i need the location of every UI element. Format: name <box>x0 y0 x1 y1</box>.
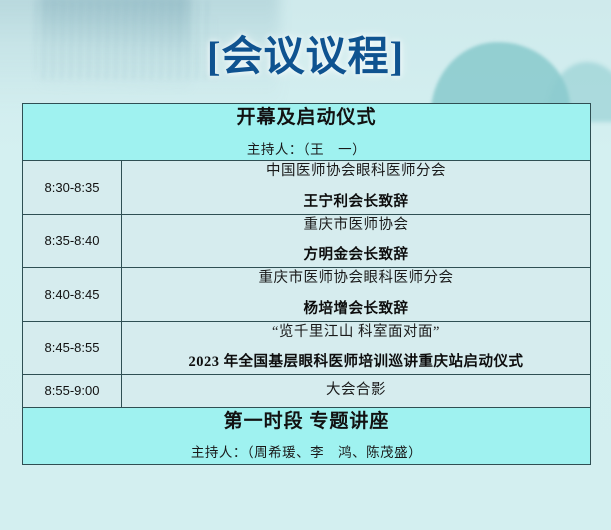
table-row: 8:30-8:35 中国医师协会眼科医师分会 王宁利会长致辞 <box>23 161 591 215</box>
row-speaker: 方明金会长致辞 <box>122 245 590 267</box>
section-header-cell: 第一时段 专题讲座 主持人：（周希瑗、李 鸿、陈茂盛） <box>23 407 591 464</box>
table-row: 8:55-9:00 大会合影 <box>23 375 591 408</box>
section-header-row: 开幕及启动仪式 主持人：（王 一） <box>23 104 591 161</box>
page-title-wrap: [会议议程] <box>0 22 611 82</box>
section-host: 主持人：（周希瑗、李 鸿、陈茂盛） <box>23 442 590 464</box>
section-host: 主持人：（王 一） <box>23 139 590 161</box>
row-org: 中国医师协会眼科医师分会 <box>122 161 590 183</box>
row-time: 8:40-8:45 <box>23 268 122 322</box>
row-time: 8:30-8:35 <box>23 161 122 215</box>
row-body: 重庆市医师协会眼科医师分会 杨培增会长致辞 <box>122 268 591 322</box>
row-body: “览千里江山 科室面对面” 2023 年全国基层眼科医师培训巡讲重庆站启动仪式 <box>122 321 591 375</box>
section-title: 开幕及启动仪式 <box>23 104 590 133</box>
agenda-table-wrap: 开幕及启动仪式 主持人：（王 一） 8:30-8:35 中国医师协会眼科医师分会… <box>22 103 590 465</box>
row-theme: “览千里江山 科室面对面” <box>122 322 590 344</box>
row-speaker: 杨培增会长致辞 <box>122 299 590 321</box>
row-event: 2023 年全国基层眼科医师培训巡讲重庆站启动仪式 <box>122 352 590 374</box>
row-time: 8:55-9:00 <box>23 375 122 408</box>
row-org: 重庆市医师协会眼科医师分会 <box>122 268 590 290</box>
table-row: 8:45-8:55 “览千里江山 科室面对面” 2023 年全国基层眼科医师培训… <box>23 321 591 375</box>
agenda-table: 开幕及启动仪式 主持人：（王 一） 8:30-8:35 中国医师协会眼科医师分会… <box>22 103 591 465</box>
section-header-row: 第一时段 专题讲座 主持人：（周希瑗、李 鸿、陈茂盛） <box>23 407 591 464</box>
table-row: 8:40-8:45 重庆市医师协会眼科医师分会 杨培增会长致辞 <box>23 268 591 322</box>
row-time: 8:45-8:55 <box>23 321 122 375</box>
row-body: 中国医师协会眼科医师分会 王宁利会长致辞 <box>122 161 591 215</box>
agenda-page: [会议议程] 开幕及启动仪式 主持人：（王 一） 8:30-8:35 <box>0 0 611 530</box>
row-body: 大会合影 <box>122 375 591 408</box>
row-body: 重庆市医师协会 方明金会长致辞 <box>122 214 591 268</box>
row-org: 重庆市医师协会 <box>122 215 590 237</box>
section-title: 第一时段 专题讲座 <box>23 408 590 437</box>
table-row: 8:35-8:40 重庆市医师协会 方明金会长致辞 <box>23 214 591 268</box>
row-speaker: 王宁利会长致辞 <box>122 192 590 214</box>
row-time: 8:35-8:40 <box>23 214 122 268</box>
section-header-cell: 开幕及启动仪式 主持人：（王 一） <box>23 104 591 161</box>
page-title: [会议议程] <box>207 22 404 82</box>
row-activity: 大会合影 <box>122 380 590 402</box>
